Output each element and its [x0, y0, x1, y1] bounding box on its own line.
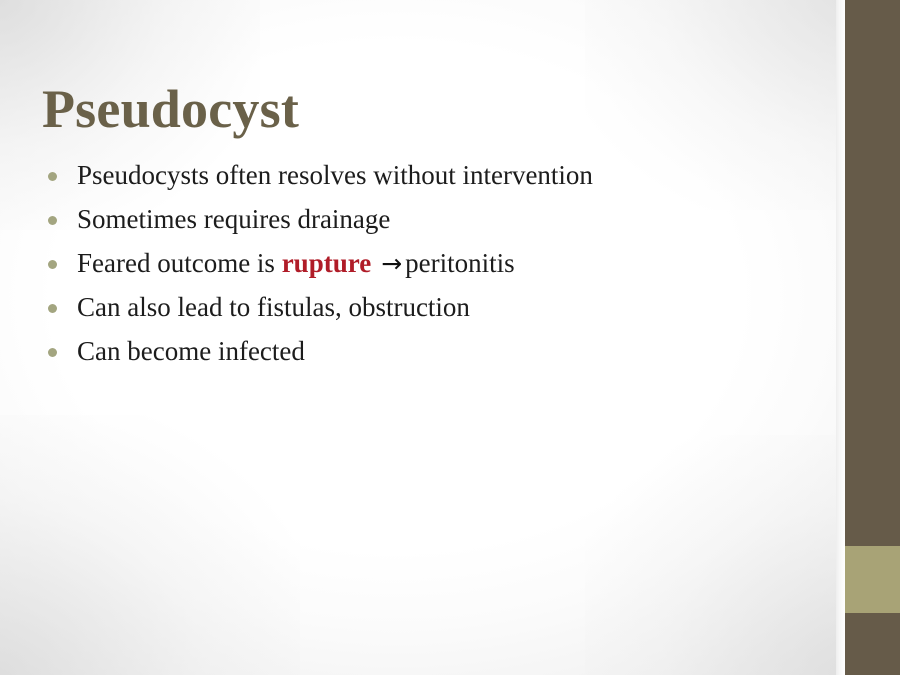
bullet-list: Pseudocysts often resolves without inter… — [48, 158, 808, 378]
list-item: Pseudocysts often resolves without inter… — [48, 158, 808, 202]
list-item: Feared outcome is rupture→peritonitis — [48, 246, 808, 290]
bullet-marker-icon — [48, 172, 57, 181]
list-item-text: Sometimes requires drainage — [77, 202, 808, 236]
list-item-text-tail: peritonitis — [405, 248, 515, 278]
presentation-slide: Pseudocyst Pseudocysts often resolves wi… — [0, 0, 900, 675]
list-item-text: Can become infected — [77, 334, 808, 368]
list-item: Sometimes requires drainage — [48, 202, 808, 246]
sidebar-gutter — [836, 0, 845, 675]
list-item: Can also lead to fistulas, obstruction — [48, 290, 808, 334]
background-vignette-bottom-left — [0, 415, 300, 675]
list-item-text: Pseudocysts often resolves without inter… — [77, 158, 808, 192]
right-arrow-icon: → — [371, 249, 405, 278]
list-item: Can become infected — [48, 334, 808, 378]
list-item-text: Can also lead to fistulas, obstruction — [77, 290, 808, 324]
bullet-marker-icon — [48, 216, 57, 225]
bullet-marker-icon — [48, 260, 57, 269]
slide-title: Pseudocyst — [42, 80, 299, 138]
bullet-marker-icon — [48, 348, 57, 357]
sidebar-band-accent — [845, 546, 900, 613]
emphasis-rupture: rupture — [282, 248, 372, 278]
bullet-marker-icon — [48, 304, 57, 313]
sidebar-band-bottom — [845, 613, 900, 675]
background-vignette-bottom-right — [585, 435, 845, 675]
sidebar-band-top — [845, 0, 900, 546]
list-item-text: Feared outcome is rupture→peritonitis — [77, 246, 808, 281]
list-item-text-lead: Feared outcome is — [77, 248, 282, 278]
